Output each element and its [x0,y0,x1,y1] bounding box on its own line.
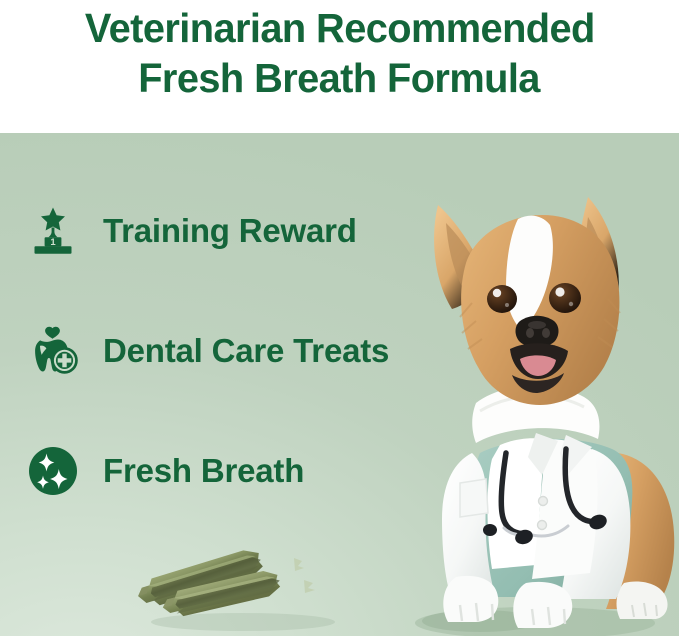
svg-text:1: 1 [50,237,56,248]
headline-line-2: Fresh Breath Formula [139,53,541,103]
product-feature-banner: Veterinarian Recommended Fresh Breath Fo… [0,0,679,636]
headline-line-1: Veterinarian Recommended [85,3,595,53]
tooth-medical-cross-icon [26,324,80,378]
feature-item-fresh-breath: Fresh Breath [26,445,406,497]
feature-item-training-reward: 1 Training Reward [26,205,406,257]
sparkle-circle-icon [26,444,80,498]
dental-chew-sticks-photo [118,518,358,636]
corgi-dog-in-vet-lab-coat-photo [360,153,679,636]
banner-header: Veterinarian Recommended Fresh Breath Fo… [0,0,679,133]
feature-label-dental-care-treats: Dental Care Treats [103,333,389,369]
feature-label-fresh-breath: Fresh Breath [103,453,304,489]
feature-list: 1 Training Reward [26,205,406,565]
podium-star-trophy-icon: 1 [26,204,80,258]
feature-panel: 1 Training Reward [0,133,679,636]
feature-item-dental-care-treats: Dental Care Treats [26,325,406,377]
feature-label-training-reward: Training Reward [103,213,357,249]
